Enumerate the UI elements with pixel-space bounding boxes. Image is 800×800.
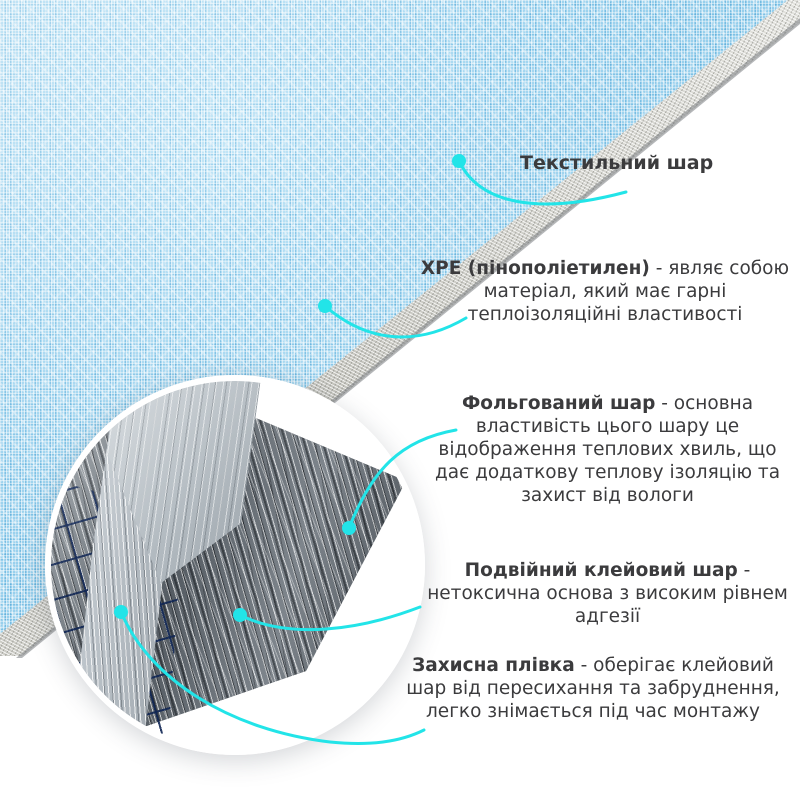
callout-term-foil-layer: Фольгований шар [462,393,655,414]
callout-xpe-layer: XPE (пінополіетилен) - являє собою матер… [420,258,790,327]
product-layers-infographic: Текстильний шар XPE (пінополіетилен) - я… [0,0,800,800]
callout-term-xpe-layer: XPE (пінополіетилен) [421,258,650,279]
callout-protective-film: Захисна плівка - оберігає клейовий шар в… [398,655,788,724]
magnifier-circle [45,375,425,755]
magnifier-content [51,381,419,749]
callout-term-textile-layer: Текстильний шар [520,152,713,174]
callout-foil-layer: Фольгований шар - основна властивість ць… [420,393,795,508]
callout-term-protective-film: Захисна плівка [412,655,575,676]
callout-textile-layer: Текстильний шар [520,152,790,176]
callout-term-double-adhesive-layer: Подвійний клейовий шар [465,560,738,581]
callout-double-adhesive-layer: Подвійний клейовий шар - нетоксична осно… [420,560,795,629]
